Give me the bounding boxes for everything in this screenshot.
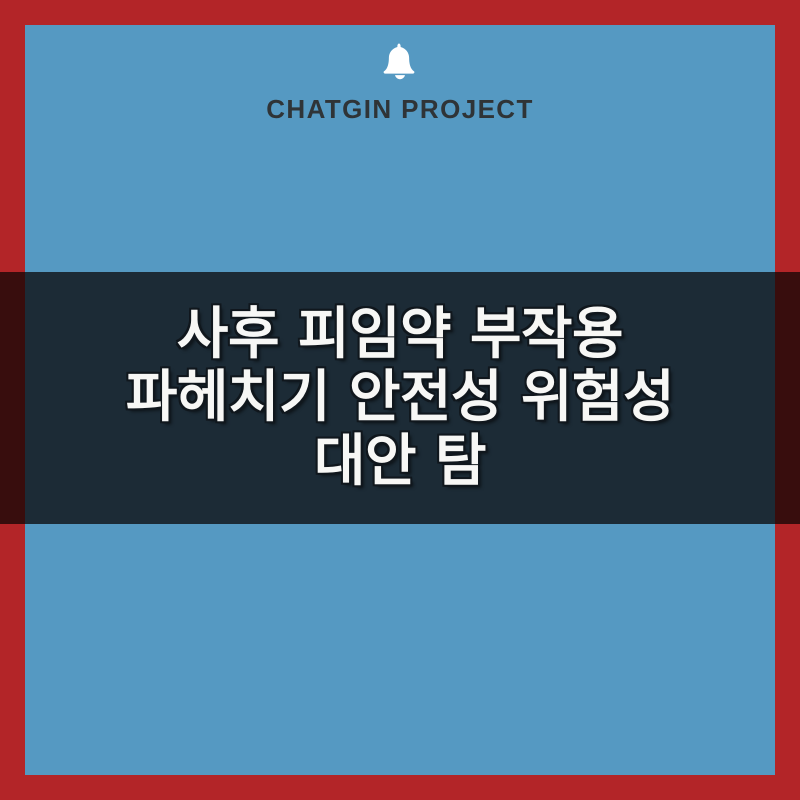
band-border-overlap-right	[775, 272, 800, 524]
banner-canvas: CHATGIN PROJECT 사후 피임약 부작용 파헤치기 안전성 위험성 …	[0, 0, 800, 800]
brand-title: CHATGIN PROJECT	[266, 94, 534, 125]
headline-block: 사후 피임약 부작용 파헤치기 안전성 위험성 대안 탐	[25, 272, 775, 524]
headline-line-3: 대안 탐	[314, 430, 486, 493]
banner-header: CHATGIN PROJECT	[25, 40, 775, 125]
border-top	[0, 0, 800, 25]
headline-line-2: 파헤치기 안전성 위험성	[126, 366, 674, 429]
bell-icon	[379, 40, 421, 82]
headline-line-1: 사후 피임약 부작용	[177, 303, 623, 366]
band-border-overlap-left	[0, 272, 25, 524]
border-bottom	[0, 775, 800, 800]
